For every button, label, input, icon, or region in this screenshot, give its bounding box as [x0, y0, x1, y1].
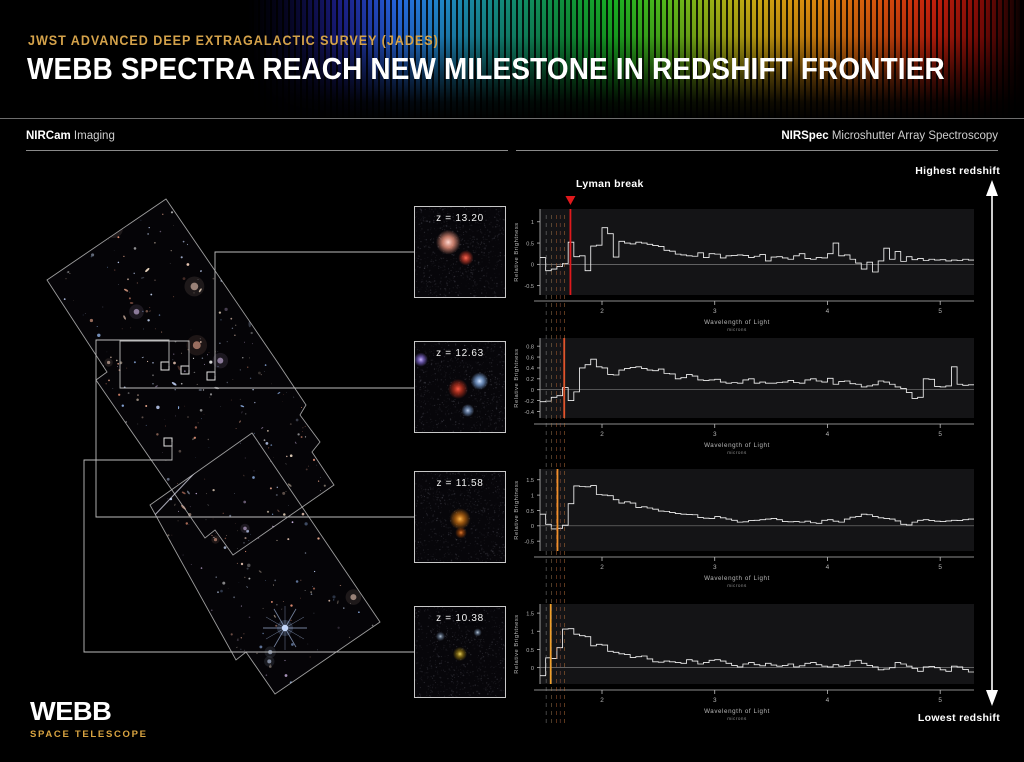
thumbnail-redshift-label-2: z = 12.63 [415, 348, 505, 359]
webb-logo-name: WEBB [30, 698, 154, 724]
highest-redshift-label: Highest redshift [915, 165, 1000, 177]
thumbnail-redshift-label-1: z = 13.20 [415, 213, 505, 224]
thumbnail-redshift-label-3: z = 11.58 [415, 478, 505, 489]
thumbnail-redshift-label-4: z = 10.38 [415, 613, 505, 624]
lyman-break-label: Lyman break [576, 178, 644, 190]
lowest-redshift-label: Lowest redshift [918, 712, 1000, 724]
infographic-root: JWST ADVANCED DEEP EXTRAGALACTIC SURVEY … [0, 0, 1024, 762]
webb-logo-subtitle: SPACE TELESCOPE [30, 729, 148, 740]
webb-logo: WEBB SPACE TELESCOPE [30, 698, 148, 740]
nirspec-spectra-group: -0.500.512345Wavelength of LightmicronsR… [0, 0, 1024, 762]
